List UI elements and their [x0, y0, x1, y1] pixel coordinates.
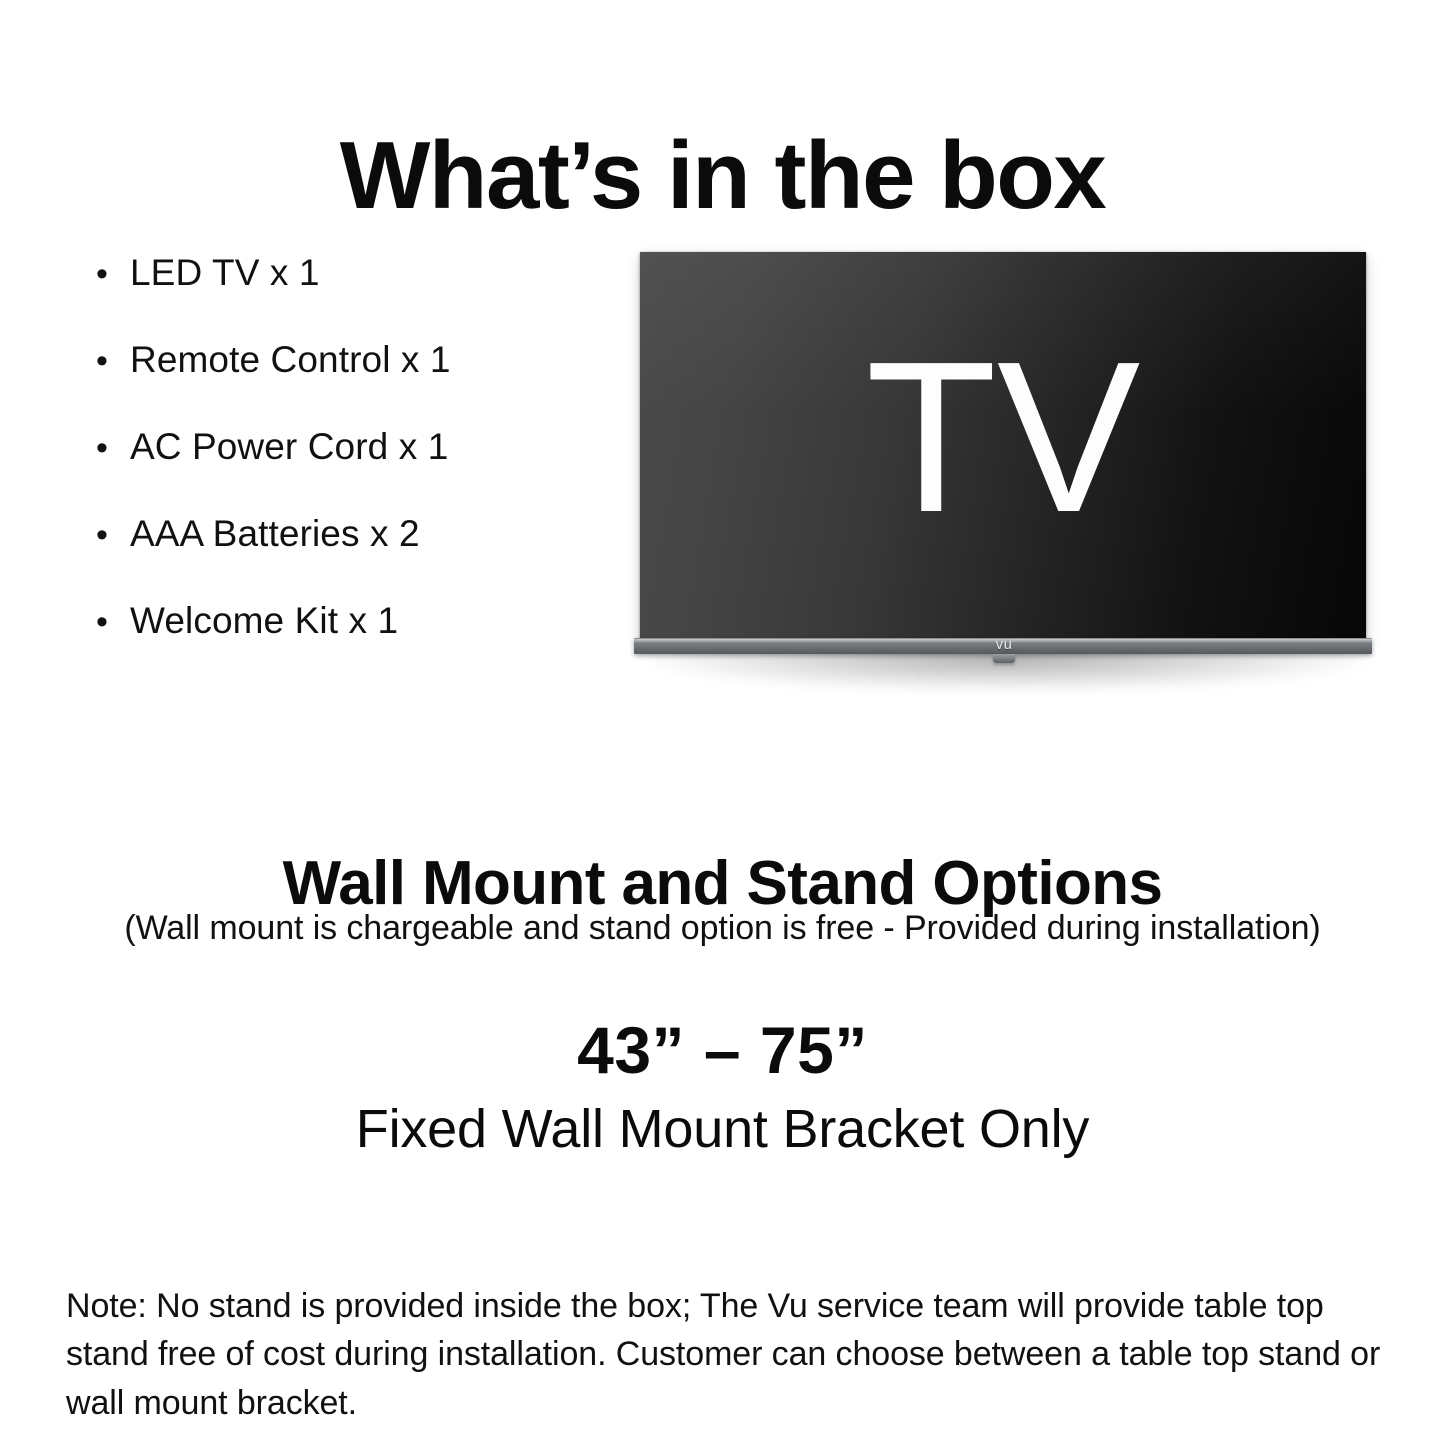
page-title: What’s in the box: [0, 126, 1445, 227]
list-item: • Remote Control x 1: [96, 339, 616, 426]
list-item: • AC Power Cord x 1: [96, 426, 616, 513]
wall-mount-subheading: (Wall mount is chargeable and stand opti…: [0, 908, 1445, 949]
size-range-caption: Fixed Wall Mount Bracket Only: [0, 1100, 1445, 1159]
whats-in-the-box-page: What’s in the box • LED TV x 1 • Remote …: [0, 0, 1445, 1445]
tv-screen-label: TV: [640, 252, 1366, 642]
list-item-label: AAA Batteries x 2: [130, 513, 420, 555]
list-item-label: Welcome Kit x 1: [130, 600, 398, 642]
wall-mount-heading: Wall Mount and Stand Options: [0, 851, 1445, 916]
note-text: Note: No stand is provided inside the bo…: [66, 1282, 1386, 1427]
list-item: • LED TV x 1: [96, 252, 616, 339]
bullet-icon: •: [96, 605, 130, 639]
bullet-icon: •: [96, 344, 130, 378]
box-contents-list: • LED TV x 1 • Remote Control x 1 • AC P…: [96, 252, 616, 687]
size-range-value: 43” – 75”: [0, 1016, 1445, 1085]
bullet-icon: •: [96, 431, 130, 465]
list-item-label: AC Power Cord x 1: [130, 426, 448, 468]
tv-illustration: TV vu: [628, 240, 1380, 692]
tv-ir-sensor-nub: [993, 654, 1015, 663]
list-item-label: Remote Control x 1: [130, 339, 451, 381]
list-item: • Welcome Kit x 1: [96, 600, 616, 687]
bullet-icon: •: [96, 257, 130, 291]
list-item-label: LED TV x 1: [130, 252, 320, 294]
tv-screen: TV: [640, 252, 1366, 642]
list-item: • AAA Batteries x 2: [96, 513, 616, 600]
vu-logo-icon: vu: [996, 637, 1013, 652]
bullet-icon: •: [96, 518, 130, 552]
